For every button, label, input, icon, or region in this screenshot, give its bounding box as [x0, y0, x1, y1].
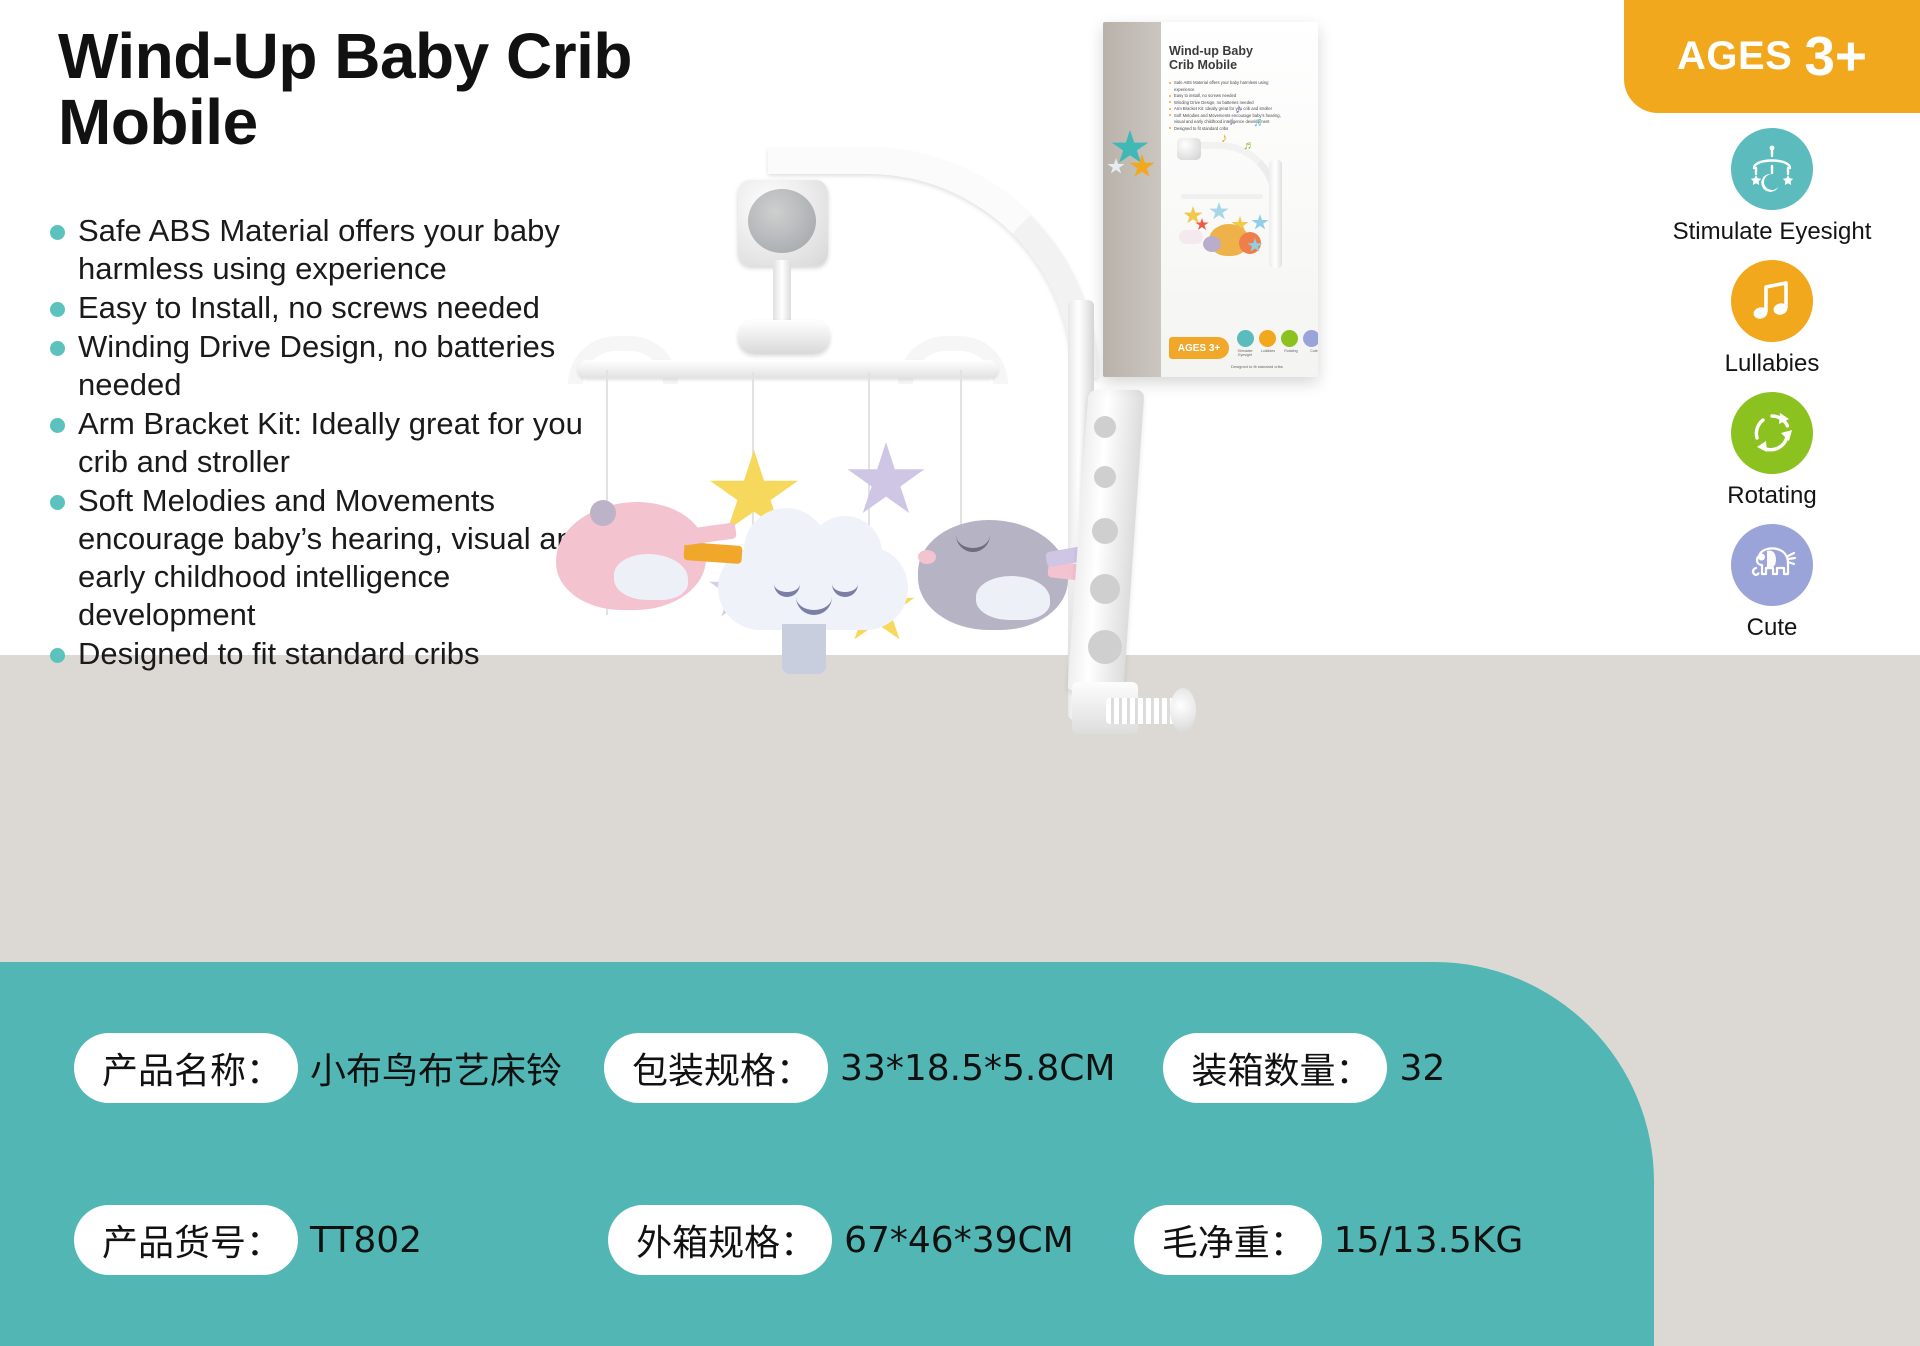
product-photo — [520, 120, 1180, 760]
elephant-icon — [1731, 524, 1813, 606]
bullet-dot-icon — [50, 495, 65, 510]
clamp-screw-head — [1170, 688, 1196, 732]
box-icon-label: Lullabies — [1258, 350, 1278, 358]
box-icon-label: Rotating — [1281, 350, 1301, 358]
crib-mobile-icon — [1731, 128, 1813, 210]
mobile-cross-arms — [578, 336, 998, 396]
spec-value: 33*18.5*5.8CM — [840, 1048, 1115, 1089]
toy-cloud — [710, 500, 910, 630]
bracket-hole — [1094, 466, 1116, 488]
bullet-dot-icon — [50, 341, 65, 356]
spec-package-size: 包装规格： 33*18.5*5.8CM — [604, 1033, 1115, 1103]
arm-bracket — [1060, 390, 1150, 720]
spec-key: 产品名称： — [74, 1033, 298, 1103]
feature-label: Rotating — [1727, 482, 1816, 510]
box-feature-icon-labels: Stimulate Eyesight Lullabies Rotating Cu… — [1235, 350, 1318, 358]
spec-key: 毛净重： — [1134, 1205, 1322, 1275]
spec-value: TT802 — [310, 1220, 422, 1261]
box-icon-stimulate-eyesight — [1237, 330, 1254, 347]
bullet-text: Winding Drive Design, no batteries neede… — [78, 329, 555, 402]
bullet-text: Soft Melodies and Movements encourage ba… — [78, 483, 591, 632]
feature-icon-column: Stimulate Eyesight Lullabies — [1624, 128, 1920, 656]
spec-panel-background — [0, 962, 1654, 1346]
wind-up-music-box — [738, 180, 828, 266]
bracket-hole — [1094, 416, 1116, 438]
feature-label: Lullabies — [1725, 350, 1820, 378]
box-icon-cute — [1303, 330, 1318, 347]
box-music-note-icon: ♩ — [1229, 114, 1241, 128]
bird-wing — [976, 576, 1050, 620]
spec-gross-net-weight: 毛净重： 15/13.5KG — [1134, 1205, 1524, 1275]
box-music-note-icon: ♫ — [1253, 114, 1263, 129]
feature-label: Cute — [1747, 614, 1798, 642]
spec-row-2: 产品货号： TT802 外箱规格： 67*46*39CM 毛净重： 15/13.… — [74, 1205, 1523, 1275]
feature-lullabies: Lullabies — [1725, 260, 1820, 378]
box-icon-label: Stimulate Eyesight — [1235, 350, 1255, 358]
box-side-panel — [1103, 22, 1161, 377]
bird-eye — [590, 500, 616, 526]
bracket-hole — [1090, 574, 1120, 604]
spec-key: 装箱数量： — [1163, 1033, 1387, 1103]
feature-cute: Cute — [1731, 524, 1813, 642]
cross-bar — [578, 360, 998, 378]
box-music-note-icon: ♪ — [1221, 130, 1228, 145]
rotating-arrows-icon — [1731, 392, 1813, 474]
bullet-text: Arm Bracket Kit: Ideally great for you c… — [78, 406, 583, 479]
music-note-icon — [1731, 260, 1813, 342]
ages-word: AGES — [1677, 34, 1792, 79]
bullet-text: Safe ABS Material offers your baby harml… — [78, 213, 560, 286]
bullet-dot-icon — [50, 302, 65, 317]
box-icon-lullabies — [1259, 330, 1276, 347]
bullet-dot-icon — [50, 225, 65, 240]
clamp-assembly — [1062, 682, 1182, 752]
bracket-hole — [1088, 630, 1122, 664]
bullet-text: Easy to Install, no screws needed — [78, 290, 540, 325]
box-icon-rotating — [1281, 330, 1298, 347]
ages-value: 3+ — [1804, 29, 1867, 84]
feature-label: Stimulate Eyesight — [1673, 218, 1872, 246]
box-star-orange — [1129, 154, 1155, 179]
box-product-illustration — [1165, 132, 1315, 332]
cloud-tail — [782, 624, 826, 674]
bullet-text: Designed to fit standard cribs — [78, 636, 480, 671]
box-music-note-icon: ♬ — [1243, 138, 1255, 152]
spec-carton-quantity: 装箱数量： 32 — [1163, 1033, 1445, 1103]
spec-value: 67*46*39CM — [844, 1220, 1074, 1261]
spec-product-code: 产品货号： TT802 — [74, 1205, 422, 1275]
bullet-dot-icon — [50, 418, 65, 433]
bracket-hole — [1092, 518, 1118, 544]
bird-beak — [918, 550, 936, 564]
ages-badge: AGES 3+ — [1624, 0, 1920, 113]
retail-package-box: Wind-up Baby Crib Mobile Safe ABS Materi… — [1103, 22, 1318, 377]
box-title: Wind-up Baby Crib Mobile — [1169, 44, 1269, 73]
spec-key: 产品货号： — [74, 1205, 298, 1275]
box-star-white — [1107, 158, 1125, 175]
box-feature-icons — [1237, 330, 1318, 347]
toy-bird-pink — [556, 492, 726, 620]
feature-rotating: Rotating — [1727, 392, 1816, 510]
spec-key: 包装规格： — [604, 1033, 828, 1103]
box-ages-badge: AGES 3+ — [1169, 337, 1229, 359]
spec-value: 小布鸟布艺床铃 — [310, 1042, 562, 1094]
music-box-stem — [773, 260, 791, 328]
box-footer-text: Designed to fit standard cribs — [1231, 364, 1283, 369]
spec-row-1: 产品名称： 小布鸟布艺床铃 包装规格： 33*18.5*5.8CM 装箱数量： … — [74, 1033, 1445, 1103]
bullet-dot-icon — [50, 648, 65, 663]
poster-canvas: Wind-Up Baby Crib Mobile Safe ABS Materi… — [0, 0, 1920, 1346]
box-icon-label: Cute — [1304, 350, 1318, 358]
spec-carton-size: 外箱规格： 67*46*39CM — [608, 1205, 1074, 1275]
spec-value: 15/13.5KG — [1334, 1220, 1524, 1261]
spec-product-name: 产品名称： 小布鸟布艺床铃 — [74, 1033, 562, 1103]
bird-wing — [614, 554, 688, 600]
spec-key: 外箱规格： — [608, 1205, 832, 1275]
spec-value: 32 — [1399, 1048, 1445, 1089]
box-bullet: Safe ABS Material offers your baby harml… — [1169, 80, 1289, 93]
feature-stimulate-eyesight: Stimulate Eyesight — [1673, 128, 1872, 246]
